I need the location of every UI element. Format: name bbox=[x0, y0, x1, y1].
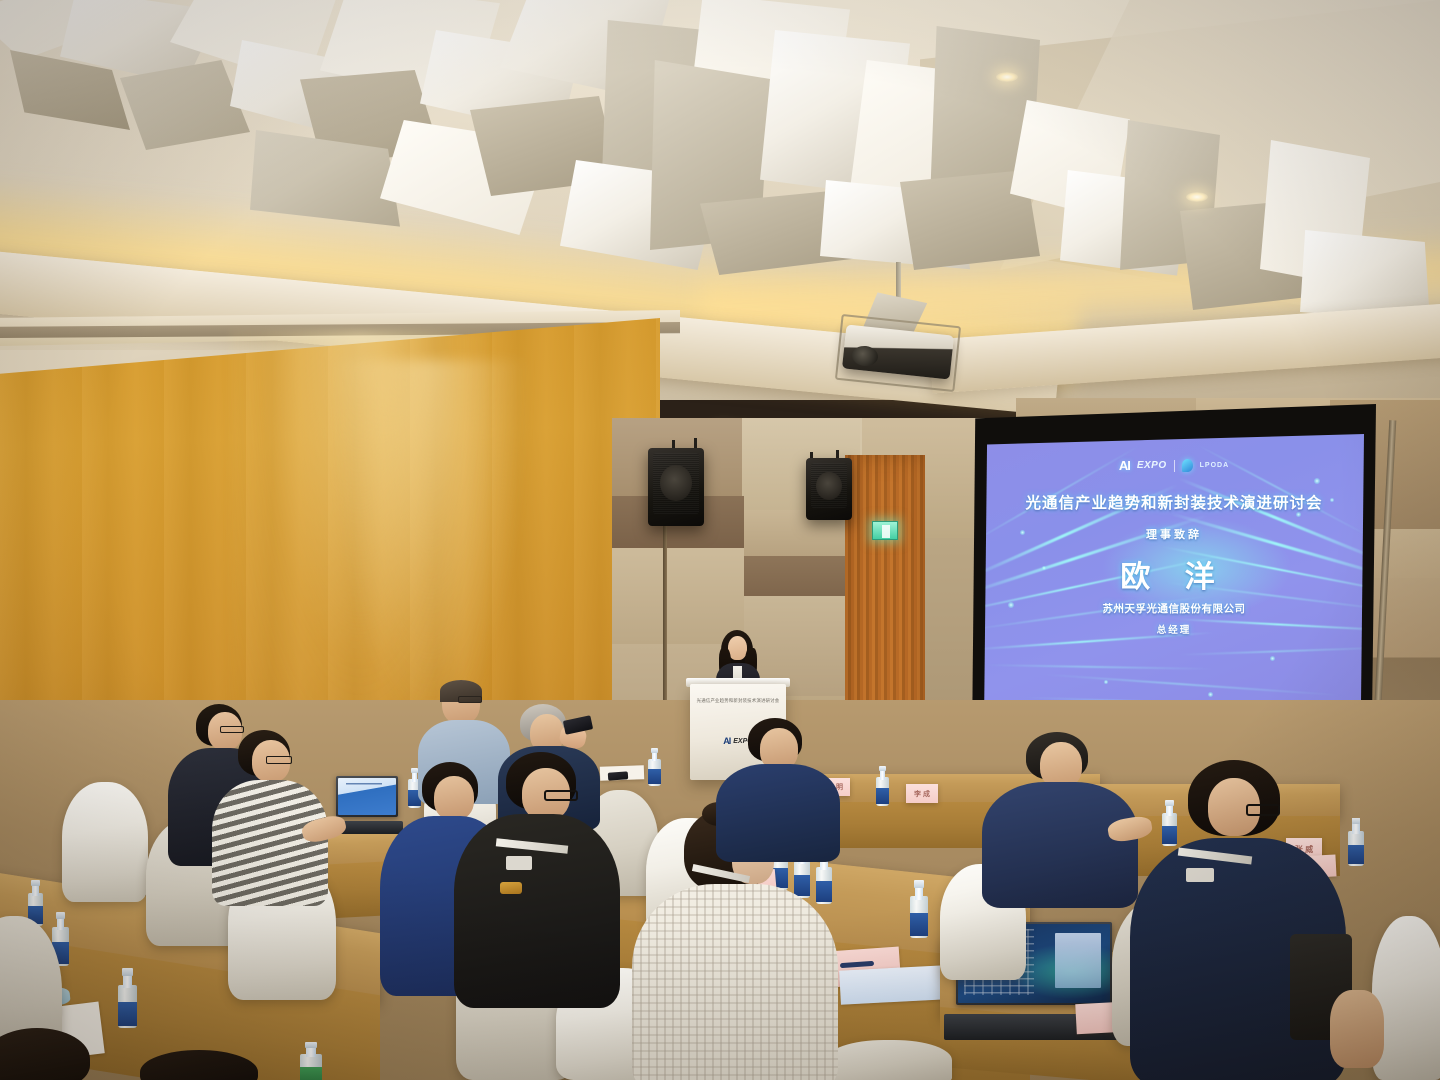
desktop-window-panel bbox=[1055, 933, 1101, 988]
podium-banner-text: 光通信产业趋势和新封装技术演进研讨会 bbox=[690, 698, 786, 704]
speaker-cone bbox=[660, 465, 691, 501]
wall-speaker-left bbox=[648, 448, 704, 526]
exit-sign-icon bbox=[872, 521, 898, 540]
ceiling-projector bbox=[838, 262, 960, 390]
water-bottle bbox=[118, 968, 137, 1028]
wall-speaker-right bbox=[806, 458, 852, 520]
slide-partner-logo-mark-icon bbox=[1182, 459, 1193, 472]
bottle-cap bbox=[56, 912, 66, 919]
bottle-cap bbox=[305, 1042, 317, 1048]
logo-emblem-icon bbox=[500, 882, 522, 894]
chair[interactable] bbox=[1372, 916, 1440, 1080]
bottle-label bbox=[910, 913, 928, 936]
attendee bbox=[140, 1050, 260, 1080]
recessed-downlight bbox=[1186, 192, 1208, 202]
slide-logo-expo-text: EXPO bbox=[1137, 460, 1167, 471]
slide-logo-group: AI EXPO LPODA bbox=[984, 458, 1364, 473]
slide-logo-partner-text: LPODA bbox=[1200, 462, 1230, 469]
slide-particle bbox=[1208, 692, 1213, 697]
attendee-leg bbox=[1330, 990, 1384, 1068]
attendee bbox=[216, 730, 324, 902]
water-bottle bbox=[910, 880, 928, 938]
water-bottle bbox=[300, 1042, 322, 1080]
attendee-suit bbox=[982, 782, 1138, 908]
document-paper bbox=[839, 965, 947, 1005]
slide-organization: 苏州天孚光通信股份有限公司 bbox=[984, 601, 1364, 616]
slide-logo-ai-text: AI bbox=[1119, 458, 1130, 473]
bottle-cap bbox=[651, 748, 658, 753]
projector-mount-pole bbox=[896, 262, 901, 302]
chair[interactable] bbox=[826, 1040, 952, 1080]
eyeglasses bbox=[544, 790, 578, 801]
attendee-hair bbox=[0, 1028, 90, 1080]
water-bottle bbox=[1348, 818, 1364, 866]
bottle-label bbox=[876, 788, 889, 804]
attendee bbox=[0, 1028, 94, 1080]
attendee bbox=[1140, 760, 1336, 1080]
bottle-cap bbox=[1352, 818, 1361, 824]
name-card: 李 成 bbox=[906, 784, 938, 803]
bottle-cap bbox=[31, 880, 39, 886]
attendee-shirt bbox=[716, 764, 840, 862]
eyeglasses bbox=[1246, 804, 1280, 816]
badge bbox=[1186, 868, 1214, 882]
speaker-cone bbox=[816, 472, 842, 501]
attendee bbox=[722, 718, 834, 858]
eyeglasses bbox=[458, 696, 482, 703]
bottle-cap bbox=[879, 766, 886, 771]
attendee-hair bbox=[140, 1050, 258, 1080]
slide-particle bbox=[1270, 656, 1275, 661]
slide-particle bbox=[1314, 478, 1320, 484]
slide-title: 光通信产业趋势和新封装技术演进研讨会 bbox=[984, 491, 1364, 513]
slide-particle bbox=[1104, 680, 1108, 684]
attendee-striped-shirt bbox=[212, 780, 328, 906]
bottle-label bbox=[648, 769, 661, 784]
slide-position: 总经理 bbox=[984, 622, 1364, 636]
slide-speaker-name: 欧 洋 bbox=[984, 552, 1364, 596]
bottle-cap bbox=[122, 968, 133, 976]
badge bbox=[506, 856, 532, 870]
chair[interactable] bbox=[62, 782, 148, 902]
smartphone[interactable] bbox=[563, 715, 593, 735]
bottle-cap bbox=[914, 880, 924, 888]
attendee bbox=[462, 752, 612, 1002]
bottle-label bbox=[118, 1002, 137, 1026]
attendee bbox=[990, 732, 1132, 902]
slide-role: 理事致辞 bbox=[984, 526, 1364, 542]
presenter-head bbox=[728, 636, 747, 660]
slide-light-streak bbox=[984, 664, 1214, 670]
attendee-knit-top bbox=[632, 884, 838, 1080]
water-bottle bbox=[648, 748, 661, 786]
conference-room-photo: AI EXPO LPODA 光通信产业趋势和新封装技术演进研讨会 理事致辞 欧 … bbox=[0, 0, 1440, 1080]
slide-light-streak bbox=[1044, 674, 1343, 697]
bottle-label bbox=[1348, 845, 1364, 864]
bottle-label bbox=[300, 1067, 322, 1080]
recessed-downlight bbox=[996, 72, 1018, 82]
water-bottle bbox=[876, 766, 889, 806]
eyeglasses bbox=[266, 756, 292, 764]
slide-logo-divider bbox=[1174, 460, 1175, 472]
slide-light-streak bbox=[1179, 646, 1364, 655]
projection-screen: AI EXPO LPODA 光通信产业趋势和新封装技术演进研讨会 理事致辞 欧 … bbox=[984, 434, 1364, 724]
